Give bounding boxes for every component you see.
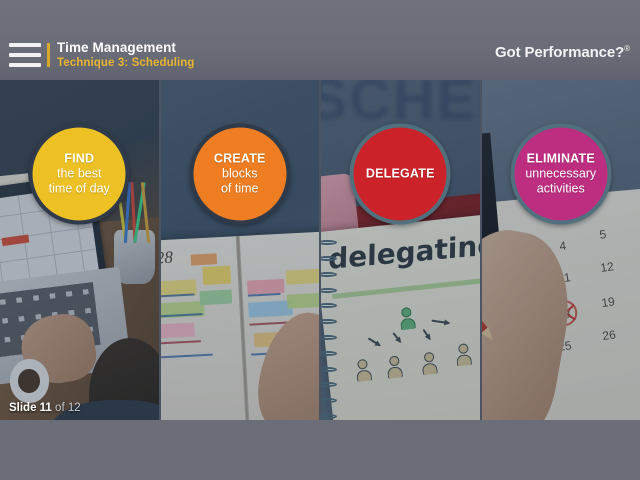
badge-find[interactable]: FIND the best time of day [29,124,130,225]
slide-counter-total: of 12 [55,402,81,414]
hamburger-menu-icon[interactable] [9,43,41,67]
technique-title: Technique 3: Scheduling [57,57,195,70]
badge-delegate-kicker: DELEGATE [366,167,435,181]
badge-create[interactable]: CREATE blocks of time [189,124,290,225]
badge-create-line3: of time [221,181,259,196]
technique-panel-strip: FIND the best time of day Slide 11 of 12… [0,80,640,420]
panel-eliminate[interactable]: 3 4 5 10 11 12 18 19 25 26 r [482,80,640,420]
slide-counter-current: Slide 11 [9,402,52,414]
badge-eliminate-line3: activities [537,181,585,196]
badge-create-line2: blocks [222,166,257,181]
slide-counter: Slide 11 of 12 [9,402,81,414]
header-title-block: Time Management Technique 3: Scheduling [57,40,195,70]
course-title: Time Management [57,40,195,55]
badge-find-line3: time of day [49,181,110,196]
brand-name: Got Performance? [495,44,624,61]
slide-stage: Time Management Technique 3: Scheduling … [0,0,640,480]
badge-eliminate-kicker: ELIMINATE [527,152,595,166]
hamburger-bar-3 [9,63,41,67]
panel-find[interactable]: FIND the best time of day Slide 11 of 12 [0,80,159,420]
hamburger-bar-1 [9,43,41,47]
badge-eliminate-line2: unnecessary [525,166,596,181]
badge-find-kicker: FIND [64,152,94,166]
badge-delegate[interactable]: DELEGATE [350,124,451,225]
slide-header: Time Management Technique 3: Scheduling … [0,0,640,80]
title-divider [47,43,50,67]
brand-logo: Got Performance?® [495,44,630,61]
registered-trademark-icon: ® [624,44,630,53]
panel-create[interactable]: 28 [161,80,320,420]
badge-eliminate[interactable]: ELIMINATE unnecessary activities [510,124,611,225]
badge-create-kicker: CREATE [214,152,266,166]
badge-find-line2: the best [57,166,101,181]
hamburger-bar-2 [9,53,41,57]
panel-delegate[interactable]: SCHEDULE delegating [321,80,480,420]
